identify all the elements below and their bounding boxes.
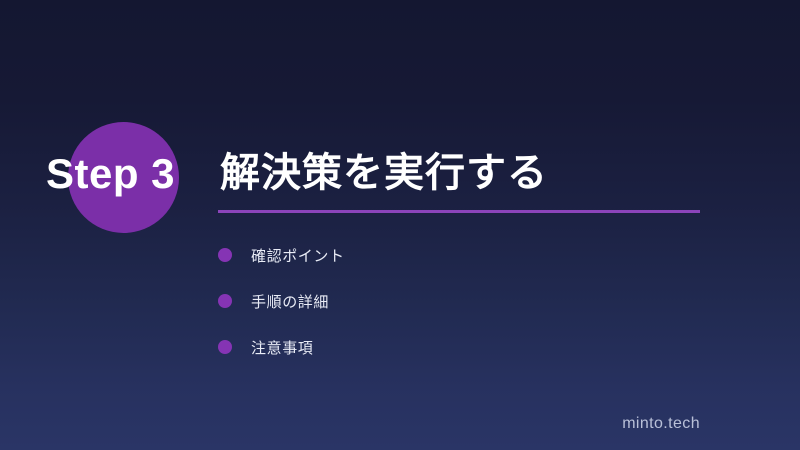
list-item: 確認ポイント [218,232,700,278]
list-item-label: 確認ポイント [251,245,345,266]
bullet-dot-icon [218,340,232,354]
bullet-dot-icon [218,248,232,262]
list-item: 手順の詳細 [218,278,700,324]
list-item-label: 注意事項 [251,337,313,358]
step-label: Step 3 [46,148,175,200]
footer-brand: minto.tech [622,415,700,433]
list-item-label: 手順の詳細 [251,291,329,312]
bullet-dot-icon [218,294,232,308]
page-title: 解決策を実行する [220,146,548,200]
bullet-list: 確認ポイント 手順の詳細 注意事項 [218,232,700,370]
list-item: 注意事項 [218,324,700,370]
presentation-slide: Step 3 解決策を実行する 確認ポイント 手順の詳細 注意事項 minto.… [0,0,800,450]
title-divider [218,210,700,213]
